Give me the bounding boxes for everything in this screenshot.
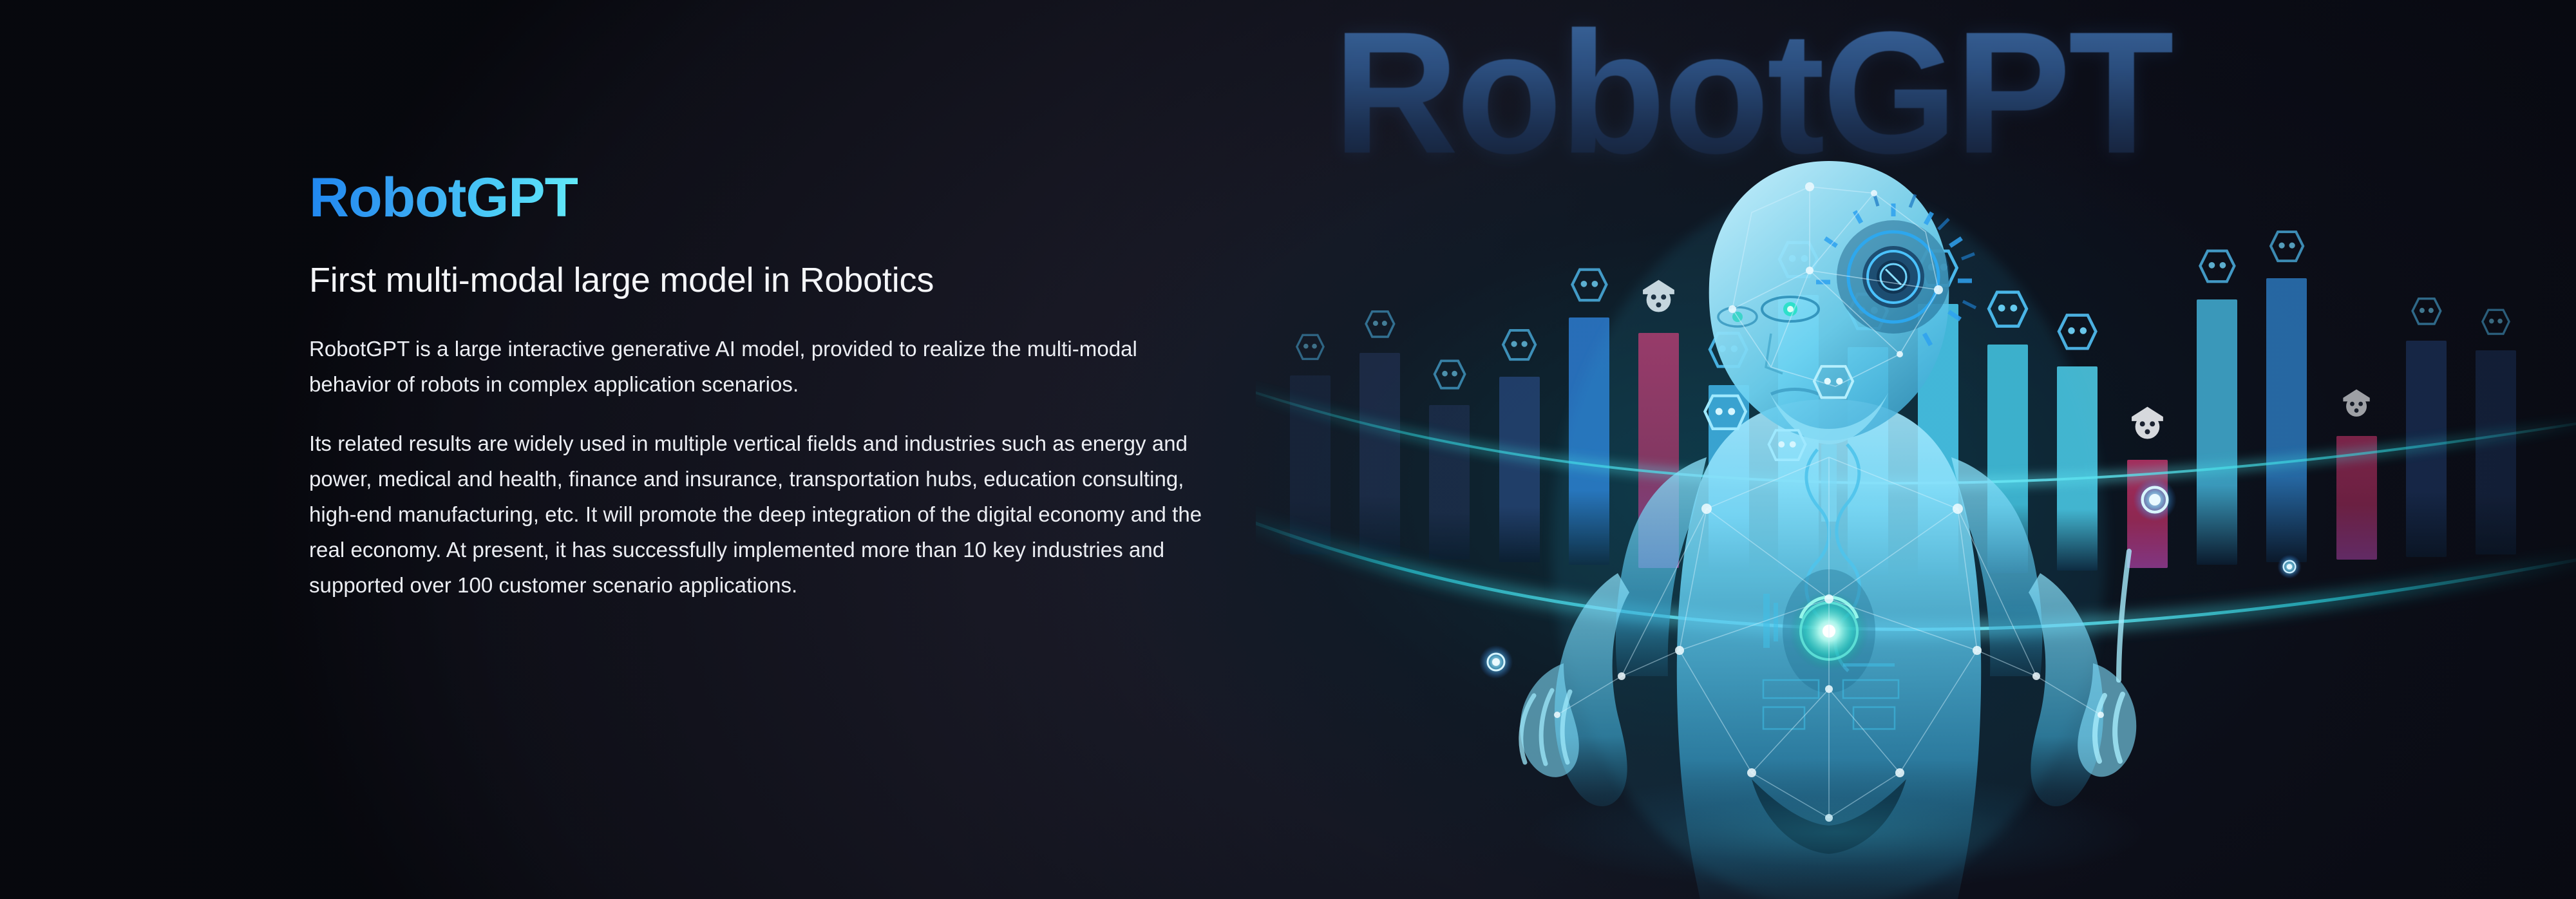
robot-head-hexagon-icon [1765, 422, 1810, 467]
chart-bar [2476, 350, 2516, 554]
body-paragraph-1: RobotGPT is a large interactive generati… [309, 332, 1204, 402]
chart-bar [2266, 278, 2307, 563]
robotgpt-hero-banner: RobotGPT RobotGPT [0, 0, 2576, 899]
robot-head-hexagon-icon [2409, 293, 2445, 329]
hero-artwork: RobotGPT RobotGPT [1256, 0, 2576, 899]
body-paragraph-2: Its related results are widely used in m… [309, 426, 1204, 603]
chart-bar [1359, 353, 1400, 557]
robot-head-hexagon-icon [2266, 225, 2307, 267]
robot-head-hexagon-icon [1810, 357, 1857, 405]
page-title: RobotGPT [309, 169, 578, 227]
chart-bar [2406, 341, 2447, 557]
robot-head-hexagon-icon [1362, 306, 1398, 342]
holographic-robot-figure [1449, 97, 2209, 899]
robot-head-hexagon-icon [1700, 386, 1750, 437]
robot-head-hexagon-icon [2479, 305, 2513, 339]
chart-bar [1290, 375, 1331, 554]
hero-text-column: RobotGPT First multi-modal large model i… [309, 169, 1211, 603]
glow-node-icon [2277, 554, 2302, 580]
robot-head-hexagon-icon [1293, 330, 1327, 364]
robot-head-solid-icon [2337, 386, 2376, 424]
page-subtitle: First multi-modal large model in Robotic… [309, 260, 1211, 301]
chart-bar-highlighted [2336, 436, 2377, 560]
